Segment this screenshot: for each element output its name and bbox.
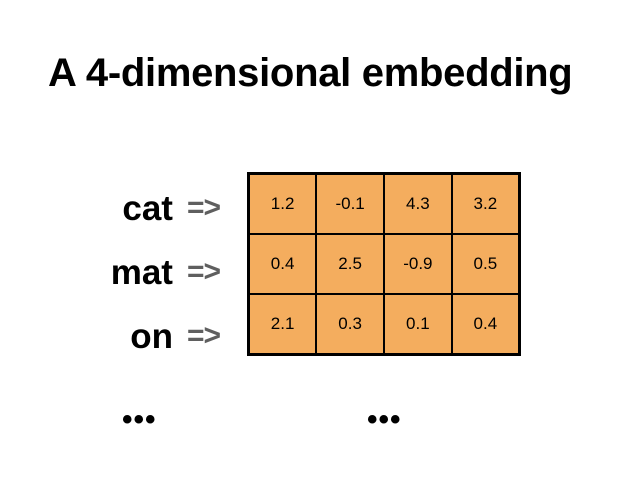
ellipsis-icon: ••• xyxy=(367,405,402,435)
table-cell: 0.3 xyxy=(316,294,384,355)
table-cell: 0.1 xyxy=(384,294,452,355)
word-row-mat: mat => xyxy=(20,240,220,304)
table-cell: 0.4 xyxy=(249,234,317,294)
word-row-on: on => xyxy=(20,304,220,368)
word-label-on: on xyxy=(130,319,173,354)
table-cell: 3.2 xyxy=(452,174,520,235)
table-cell: -0.9 xyxy=(384,234,452,294)
table-cell: 0.5 xyxy=(452,234,520,294)
table-cell: 0.4 xyxy=(452,294,520,355)
word-label-list: cat => mat => on => xyxy=(20,176,220,368)
table-cell: 1.2 xyxy=(249,174,317,235)
arrow-right-icon: => xyxy=(187,193,220,223)
table-row: 1.2 -0.1 4.3 3.2 xyxy=(249,174,520,235)
table-cell: 2.5 xyxy=(316,234,384,294)
word-label-cat: cat xyxy=(122,191,173,226)
arrow-right-icon: => xyxy=(187,321,220,351)
table-cell: 2.1 xyxy=(249,294,317,355)
word-row-cat: cat => xyxy=(20,176,220,240)
ellipsis-icon: ••• xyxy=(122,405,157,435)
arrow-right-icon: => xyxy=(187,257,220,287)
word-label-mat: mat xyxy=(111,255,173,290)
embedding-matrix: 1.2 -0.1 4.3 3.2 0.4 2.5 -0.9 0.5 2.1 0.… xyxy=(247,172,521,356)
table-row: 2.1 0.3 0.1 0.4 xyxy=(249,294,520,355)
table-row: 0.4 2.5 -0.9 0.5 xyxy=(249,234,520,294)
slide-canvas: A 4-dimensional embedding cat => mat => … xyxy=(0,0,638,484)
table-cell: -0.1 xyxy=(316,174,384,235)
page-title: A 4-dimensional embedding xyxy=(48,50,608,96)
table-cell: 4.3 xyxy=(384,174,452,235)
